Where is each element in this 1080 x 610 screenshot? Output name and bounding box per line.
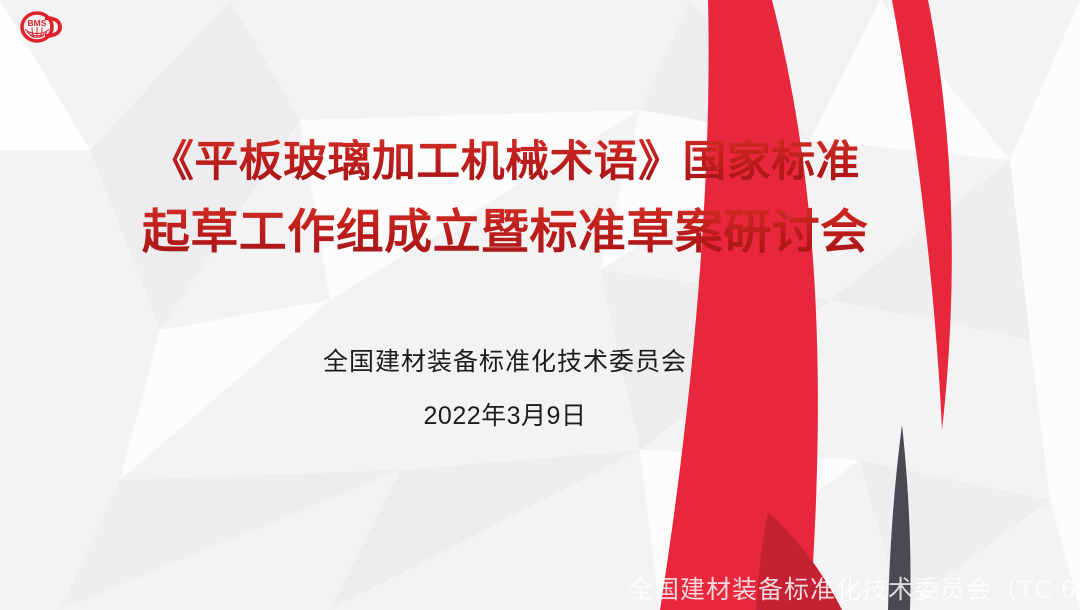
ribbon-primary bbox=[660, 0, 818, 610]
watermark-text: 全国建材装备标准化技术委员会（TC 65） bbox=[628, 570, 1080, 606]
presentation-date: 2022年3月9日 bbox=[424, 396, 587, 432]
title-slide: 全国建材装备标准化技术委员会（TC 65） BMS 《平板玻璃加工机械术语》国家… bbox=[0, 0, 1080, 610]
ribbon-accent-dark bbox=[756, 512, 842, 610]
title-line-2: 起草工作组成立暨标准草案研讨会 bbox=[142, 207, 869, 258]
title-line-1: 《平板玻璃加工机械术语》国家标准 bbox=[150, 139, 860, 185]
ribbon-secondary bbox=[892, 0, 952, 430]
bms-logo: BMS bbox=[14, 6, 66, 48]
organization-name: 全国建材装备标准化技术委员会 bbox=[323, 342, 687, 378]
decorative-ribbon-graphic bbox=[660, 0, 1080, 610]
background-texture bbox=[0, 0, 1080, 610]
charcoal-spire bbox=[888, 425, 911, 610]
slide-content: 《平板玻璃加工机械术语》国家标准 起草工作组成立暨标准草案研讨会 全国建材装备标… bbox=[0, 0, 1010, 610]
svg-text:BMS: BMS bbox=[28, 18, 47, 28]
